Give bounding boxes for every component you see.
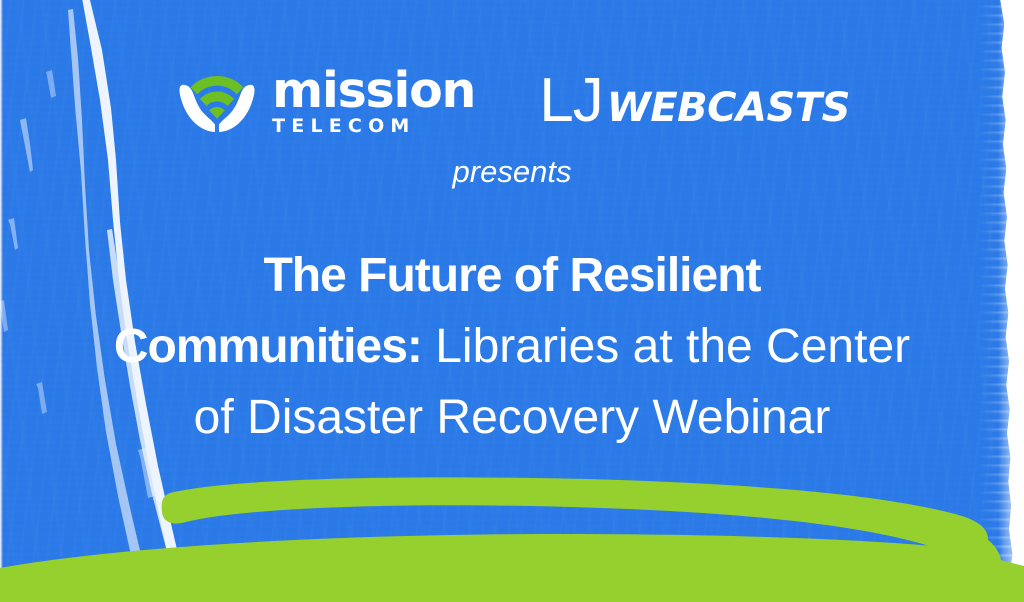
- banner-content: mission TELECOM LJ WEBCASTS presents The…: [0, 0, 1024, 602]
- title-line-1: The Future of Resilient: [0, 240, 1024, 311]
- title-line-3-light: of Disaster Recovery Webinar: [194, 391, 831, 444]
- lj-webcasts-text: WEBCASTS: [607, 88, 850, 128]
- title-line-2: Communities: Libraries at the Center: [0, 311, 1024, 382]
- mission-telecom-logo: mission TELECOM: [174, 66, 475, 136]
- mission-name-text: mission: [272, 66, 475, 115]
- title-line-2-bold: Communities:: [114, 320, 422, 373]
- hands-wifi-logo-icon: [174, 68, 260, 134]
- title-line-3: of Disaster Recovery Webinar: [0, 382, 1024, 453]
- sponsor-logo-row: mission TELECOM LJ WEBCASTS: [0, 66, 1024, 136]
- presents-label: presents: [0, 154, 1024, 190]
- lj-monogram-text: LJ: [539, 70, 602, 132]
- title-line-2-light: Libraries at the Center: [422, 320, 910, 373]
- lj-webcasts-logo: LJ WEBCASTS: [539, 70, 850, 132]
- mission-telecom-wordmark: mission TELECOM: [272, 66, 475, 136]
- mission-subtitle-text: TELECOM: [272, 117, 415, 136]
- webinar-promo-banner: mission TELECOM LJ WEBCASTS presents The…: [0, 0, 1024, 602]
- title-line-1-bold: The Future of Resilient: [263, 249, 760, 302]
- webinar-title: The Future of Resilient Communities: Lib…: [0, 240, 1024, 453]
